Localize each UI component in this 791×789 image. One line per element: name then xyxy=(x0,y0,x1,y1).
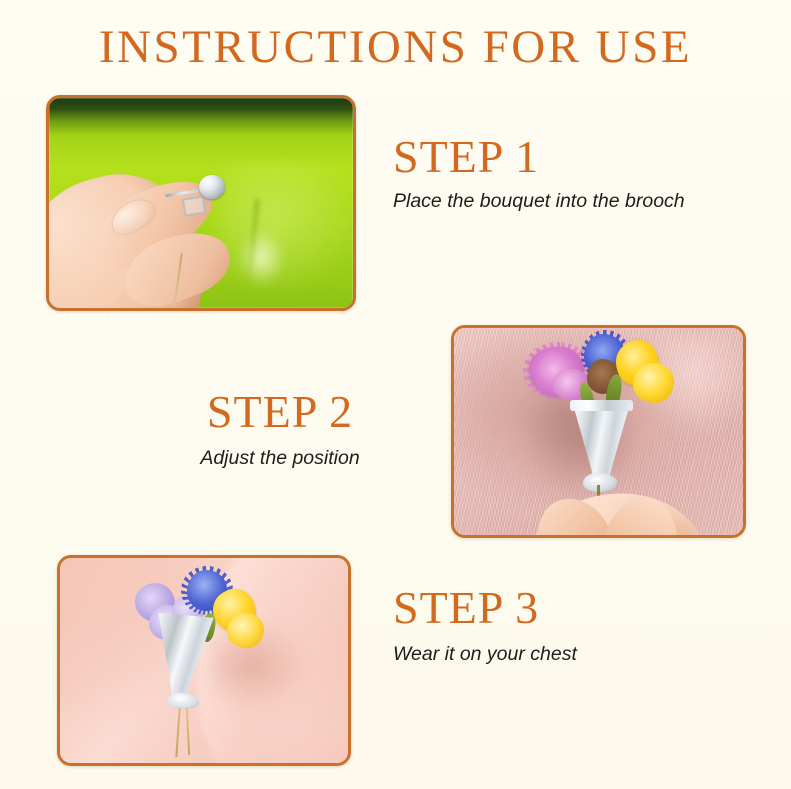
pin-clasp xyxy=(182,195,207,216)
page-title: INSTRUCTIONS FOR USE xyxy=(0,20,791,74)
instructions-page: INSTRUCTIONS FOR USE xyxy=(0,0,791,789)
photo-3-content xyxy=(60,558,348,763)
step-3-block: STEP 3 Wear it on your chest xyxy=(393,584,723,666)
step-2-block: STEP 2 Adjust the position xyxy=(130,388,430,470)
photo-brooch-worn-on-chest xyxy=(57,555,351,766)
step-2-description: Adjust the position xyxy=(130,447,430,470)
step-1-block: STEP 1 Place the bouquet into the brooch xyxy=(393,133,713,213)
grass-bokeh xyxy=(237,228,286,287)
step-3-description: Wear it on your chest xyxy=(393,643,723,666)
yellow-flower-small xyxy=(633,363,673,402)
pin-head-bead xyxy=(199,175,225,199)
step-1-number: STEP 1 xyxy=(393,133,713,181)
photo-hand-holding-pin-on-grass xyxy=(46,95,356,311)
photo-1-content xyxy=(49,98,353,308)
step-3-number: STEP 3 xyxy=(393,584,723,632)
photo-2-content xyxy=(454,328,743,535)
step-2-number: STEP 2 xyxy=(130,388,430,436)
vase-rim xyxy=(570,400,634,410)
photo-bouquet-brooch-on-pink-fur xyxy=(451,325,746,538)
vase-knot xyxy=(583,473,618,492)
step-1-description: Place the bouquet into the brooch xyxy=(393,190,713,213)
